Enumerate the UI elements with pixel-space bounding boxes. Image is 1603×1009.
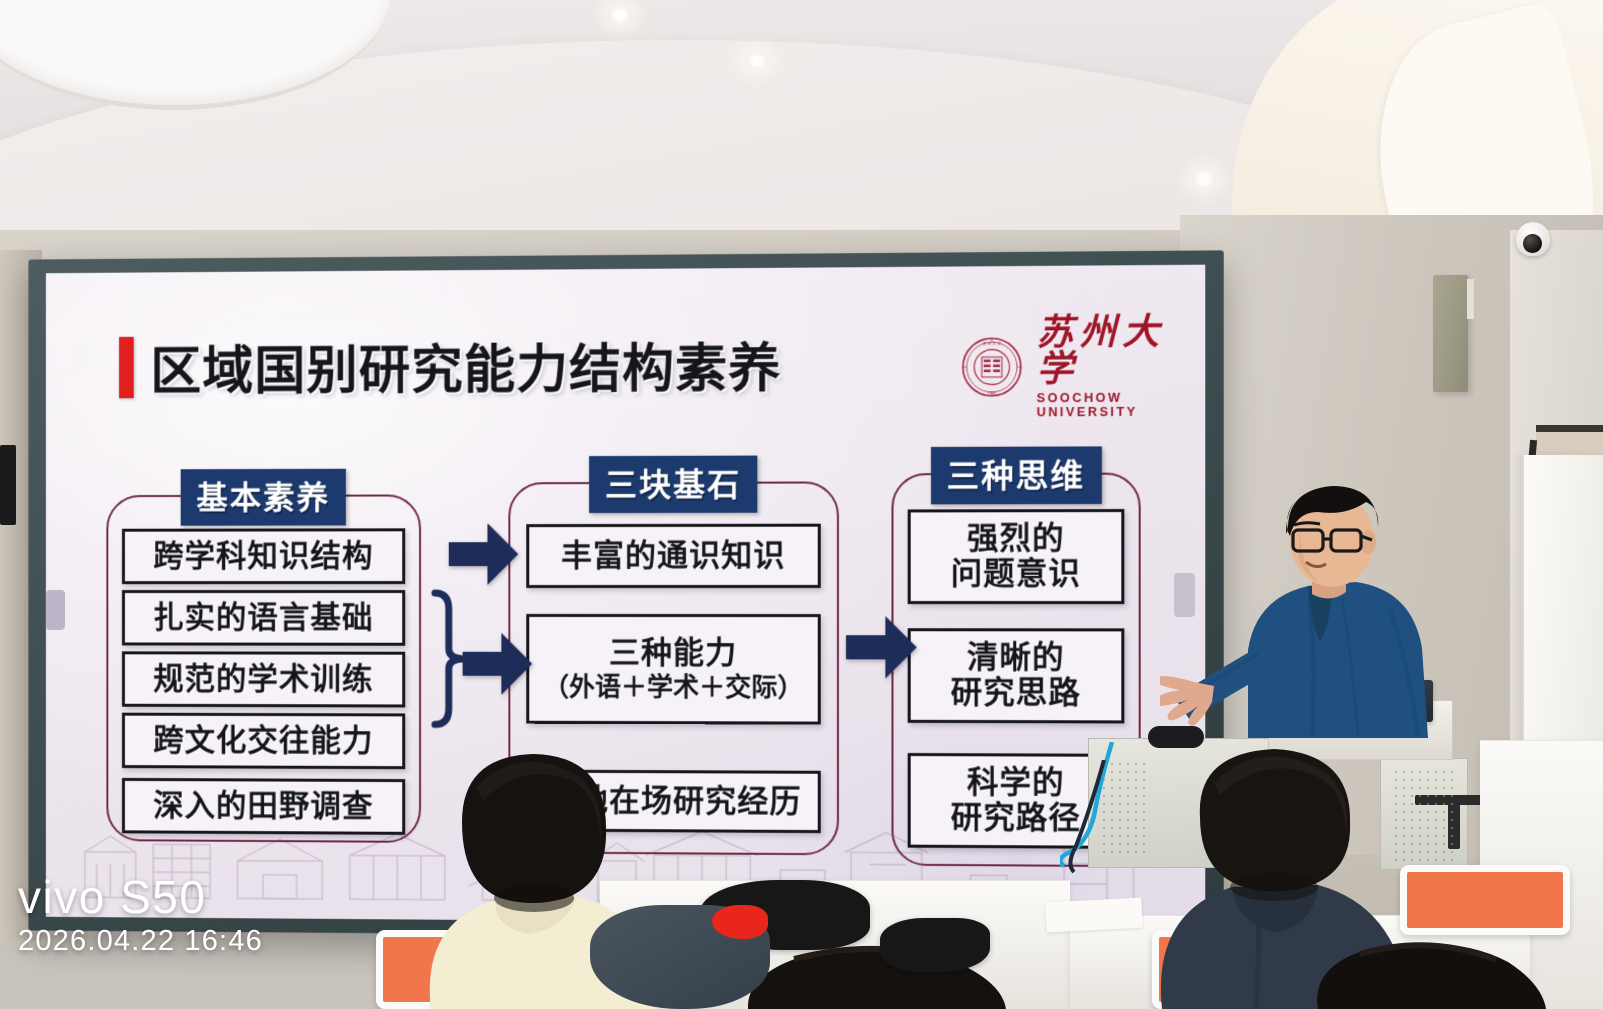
screen-side-button[interactable] — [46, 590, 65, 630]
item-text-line2: 研究思路 — [951, 677, 1081, 710]
item-text-line1: 清晰的 — [951, 641, 1081, 674]
item-text-stack: 强烈的 问题意识 — [951, 522, 1081, 590]
column-badge-three-cornerstones: 三块基石 — [589, 456, 757, 513]
item-text: 扎实的语言基础 — [153, 601, 373, 634]
column-badge-three-modes-of-thinking: 三种思维 — [930, 446, 1101, 504]
item-box: 丰富的通识知识 — [526, 524, 821, 588]
item-subtext: （外语＋学术＋交际） — [543, 674, 803, 702]
attendee-front-right — [1300, 940, 1550, 1009]
item-box: 清晰的 研究思路 — [908, 628, 1125, 723]
arrow-right-icon — [844, 614, 919, 680]
item-text: 跨文化交往能力 — [153, 724, 373, 757]
item-text-stack: 清晰的 研究思路 — [951, 641, 1081, 710]
item-text-line2: 问题意识 — [951, 558, 1081, 591]
wall-plate — [0, 445, 16, 525]
camera-watermark-brand: vivo S50 — [18, 870, 206, 924]
item-text: 跨学科知识结构 — [153, 540, 373, 573]
camera-watermark-datetime: 2026.04.22 16:46 — [18, 925, 263, 958]
classroom-photo: 区域国别研究能力结构素养 苏 州 大 学 1900 — [0, 0, 1603, 1009]
downlight — [608, 6, 632, 24]
column-badge-basic-literacy: 基本素养 — [181, 469, 346, 526]
item-box: 跨学科知识结构 — [122, 528, 405, 584]
item-text: 三种能力 — [609, 637, 737, 670]
item-box: 强烈的 问题意识 — [908, 509, 1125, 604]
item-text: 丰富的通识知识 — [561, 539, 785, 572]
item-text: 深入的田野调查 — [153, 789, 373, 823]
arrow-right-icon — [447, 521, 520, 587]
arrow-right-icon — [461, 631, 535, 697]
security-camera-icon — [1516, 222, 1550, 256]
column-basic-literacy: 基本素养 跨学科知识结构 扎实的语言基础 规范的学术训练 跨文化交往能力 深入的 — [106, 494, 421, 842]
black-bag — [880, 918, 990, 972]
item-box: 深入的田野调查 — [122, 778, 405, 835]
item-box: 扎实的语言基础 — [122, 590, 405, 646]
red-item — [712, 905, 768, 939]
downlight — [1192, 170, 1216, 188]
item-text-line1: 强烈的 — [951, 522, 1081, 555]
item-box: 规范的学术训练 — [122, 651, 405, 707]
item-box: 三种能力 （外语＋学术＋交际） — [526, 614, 821, 725]
item-text: 规范的学术训练 — [153, 663, 373, 696]
wall-speaker-panel — [1433, 275, 1468, 392]
downlight — [745, 52, 769, 70]
mobile-whiteboard — [1522, 455, 1603, 755]
item-box: 跨文化交往能力 — [122, 713, 405, 769]
